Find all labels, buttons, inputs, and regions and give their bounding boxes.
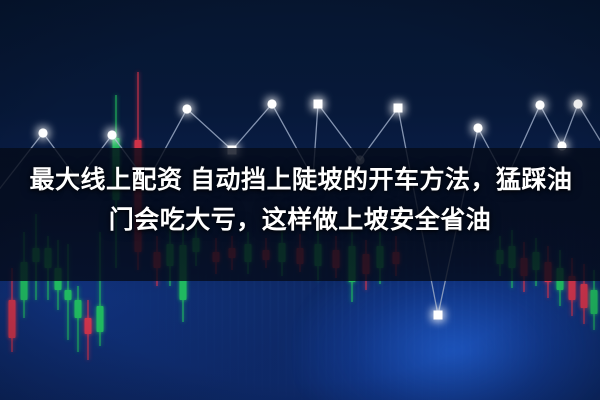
page-title: 最大线上配资 自动挡上陡坡的开车方法，猛踩油 门会吃大亏，这样做上坡安全省油 [0,160,600,240]
headline-line-1: 最大线上配资 自动挡上陡坡的开车方法，猛踩油 [0,160,600,200]
banner-image: 最大线上配资 自动挡上陡坡的开车方法，猛踩油 门会吃大亏，这样做上坡安全省油 [0,0,600,400]
headline-line-2: 门会吃大亏，这样做上坡安全省油 [0,200,600,240]
